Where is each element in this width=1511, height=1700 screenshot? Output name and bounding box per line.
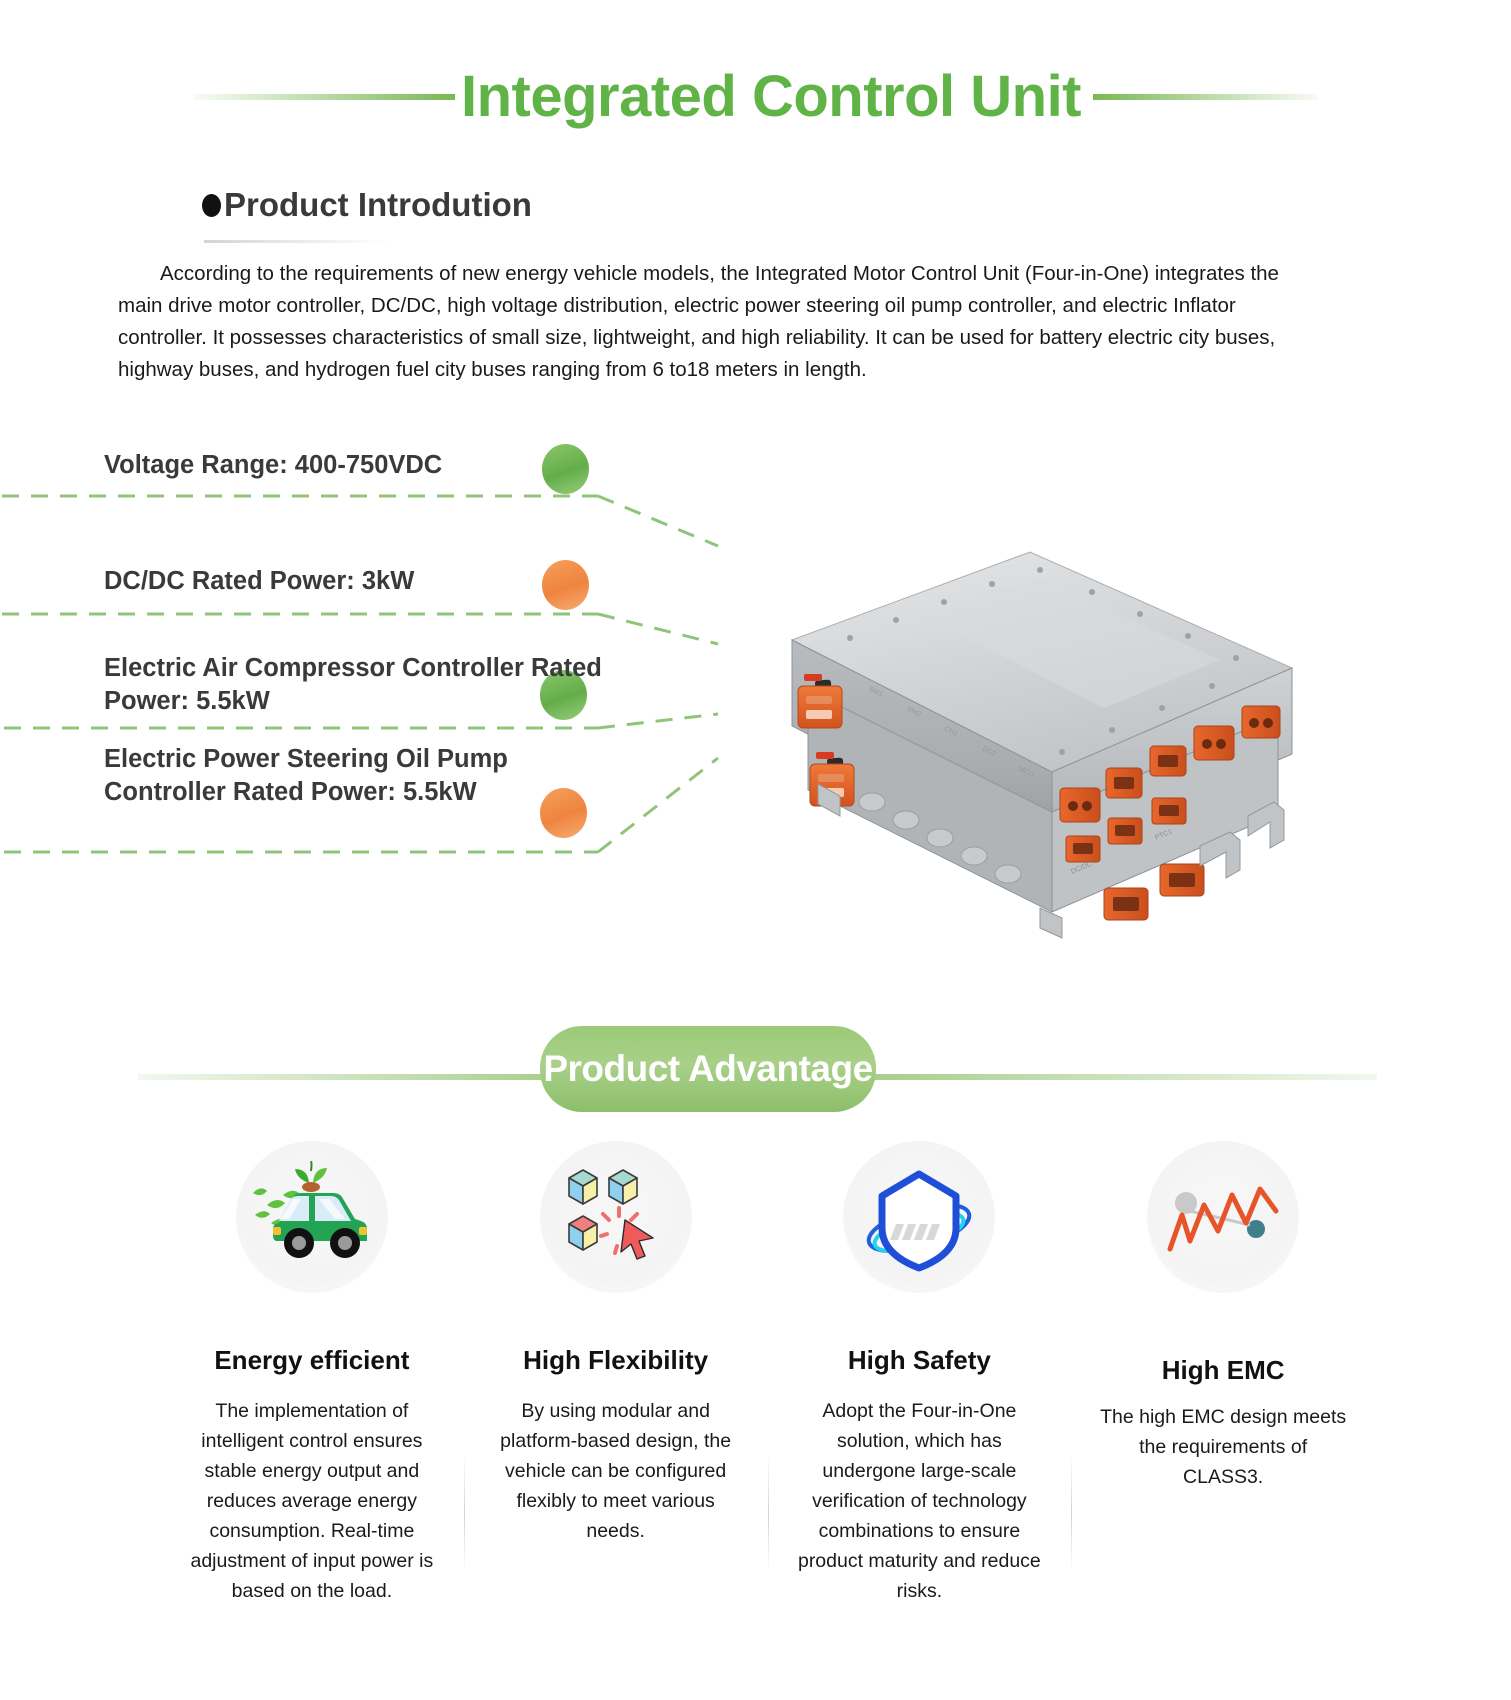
advantage-body-high-flexibility: By using modular and platform-based desi… <box>491 1396 741 1546</box>
title-rule-right <box>1093 94 1318 100</box>
advantage-title-high-safety: High Safety <box>848 1345 991 1376</box>
datasheet-page: Integrated Control Unit Product Introdut… <box>0 0 1511 1700</box>
title-rule-left <box>193 94 455 100</box>
spec-list: Voltage Range: 400-750VDC DC/DC Rated Po… <box>0 428 720 878</box>
section-title: Product Introdution <box>224 186 532 224</box>
eco-car-icon <box>236 1141 388 1293</box>
intro-paragraph: According to the requirements of new ene… <box>118 258 1280 386</box>
spec-label-voltage-range: Voltage Range: 400-750VDC <box>104 449 604 482</box>
advantage-columns: Energy efficient The implementation of i… <box>160 1135 1375 1695</box>
advantage-body-high-safety: Adopt the Four-in-One solution, which ha… <box>794 1396 1044 1606</box>
advantage-title-high-emc: High EMC <box>1162 1355 1285 1386</box>
spec-label-dcdc-power: DC/DC Rated Power: 3kW <box>104 565 604 598</box>
spec-label-air-compressor: Electric Air Compressor Controller Rated… <box>104 652 604 718</box>
advantage-body-high-emc: The high EMC design meets the requiremen… <box>1098 1402 1348 1492</box>
integrated-control-unit-illustration: SW1 SW2 CH1 DC2 MCU <box>700 540 1320 940</box>
section-underline <box>204 240 389 243</box>
advantage-column-high-emc: High EMC The high EMC design meets the r… <box>1071 1135 1375 1695</box>
advantage-rule-right <box>872 1074 1377 1080</box>
signal-chart-icon <box>1147 1141 1299 1293</box>
modular-cubes-cursor-icon <box>540 1141 692 1293</box>
shield-orbit-icon <box>843 1141 995 1293</box>
advantage-column-energy-efficient: Energy efficient The implementation of i… <box>160 1135 464 1695</box>
advantage-title-energy-efficient: Energy efficient <box>214 1345 409 1376</box>
page-title-row: Integrated Control Unit <box>0 68 1511 126</box>
advantage-banner-title: Product Advantage <box>543 1048 872 1090</box>
advantage-column-high-flexibility: High Flexibility By using modular and pl… <box>464 1135 768 1695</box>
product-introduction-heading: Product Introdution <box>202 186 532 224</box>
advantage-title-high-flexibility: High Flexibility <box>523 1345 708 1376</box>
product-image: SW1 SW2 CH1 DC2 MCU <box>700 540 1320 940</box>
advantage-pill: Product Advantage <box>540 1026 876 1112</box>
page-title: Integrated Control Unit <box>461 68 1081 126</box>
spec-label-steering-pump: Electric Power Steering Oil Pump Control… <box>104 743 564 809</box>
bullet-circle-icon <box>202 194 221 217</box>
advantage-rule-left <box>138 1074 558 1080</box>
advantage-column-high-safety: High Safety Adopt the Four-in-One soluti… <box>768 1135 1072 1695</box>
advantage-body-energy-efficient: The implementation of intelligent contro… <box>187 1396 437 1606</box>
product-advantage-banner: Product Advantage <box>0 1012 1511 1112</box>
